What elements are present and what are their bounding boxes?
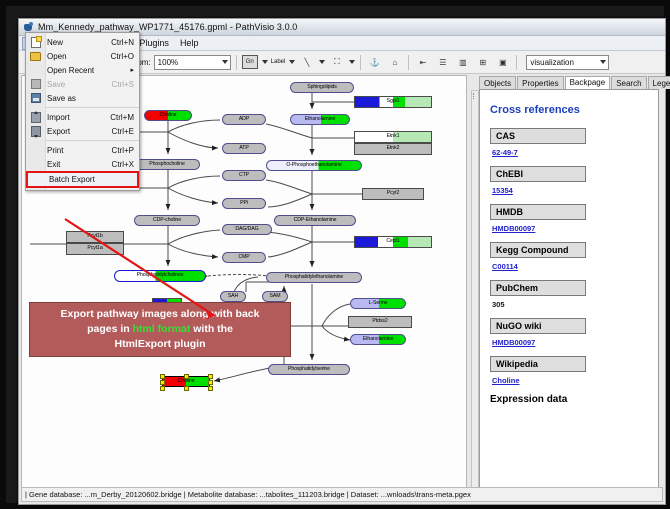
gene-node-etnk1[interactable]: Etnk1 (354, 131, 432, 143)
menu-item-shortcut: Ctrl+S (112, 80, 139, 89)
xref-value-chebi[interactable]: 15354 (492, 186, 650, 195)
node-label: Pcyt1a (87, 246, 102, 251)
shape-tool-icon[interactable]: ⌂ (386, 54, 403, 71)
tab-properties[interactable]: Properties (517, 76, 563, 89)
node-label: Sphingolipids (307, 85, 337, 90)
node-label: Pcyt2 (387, 191, 399, 196)
datanode-dropdown-icon[interactable] (262, 60, 268, 64)
xref-label-nugo-wiki: NuGO wiki (490, 318, 586, 334)
menu-plugins[interactable]: Plugins (134, 37, 174, 50)
label-dropdown-icon[interactable] (289, 60, 295, 64)
menu-item-label: New (45, 38, 111, 47)
open-folder-icon (26, 52, 45, 61)
tab-search[interactable]: Search (611, 76, 646, 89)
gene-node-cept1[interactable]: Cept1 (354, 236, 432, 248)
node-label: CMP (238, 255, 249, 260)
menu-item-open-recent[interactable]: Open Recent ▸ (26, 63, 139, 77)
selection-handle[interactable] (160, 374, 165, 379)
tab-backpage[interactable]: Backpage (565, 76, 611, 89)
interaction-tool-icon[interactable]: ⛶ (328, 54, 345, 71)
callout-highlight: html format (133, 323, 191, 335)
export-icon (26, 126, 45, 137)
menu-item-shortcut: Ctrl+O (111, 52, 139, 61)
node-label: Ethanolamine (305, 117, 336, 122)
xref-value-hmdb[interactable]: HMDB00097 (492, 224, 650, 233)
node-label: Etnk1 (387, 134, 400, 139)
save-as-icon (26, 93, 45, 103)
metabolite-node-dag[interactable]: DAG/DAG (222, 224, 272, 235)
metabolite-node-sam[interactable]: SAM (262, 291, 288, 302)
xref-value-cas[interactable]: 62-49-7 (492, 148, 650, 157)
menu-item-shortcut: Ctrl+N (111, 38, 139, 47)
xref-label-kegg-compound: Kegg Compound (490, 242, 586, 258)
metabolite-node-phosphatidylethanolamine[interactable]: Phosphatidylethanolamine (266, 272, 362, 283)
node-label: Choline (178, 379, 195, 384)
menu-item-open[interactable]: Open Ctrl+O (26, 49, 139, 63)
node-label: DAG/DAG (235, 227, 258, 232)
gene-node-ptdss2[interactable]: Ptdss2 (348, 316, 412, 328)
align-left-icon[interactable]: ⇤ (414, 54, 431, 71)
anchor-tool-icon[interactable]: ⚓ (366, 54, 383, 71)
menu-item-label: Import (45, 113, 110, 122)
selection-handle[interactable] (184, 386, 189, 391)
selection-handle[interactable] (160, 386, 165, 391)
zoom-combobox[interactable]: 100% (154, 55, 231, 70)
window-outer-frame: Mm_Kennedy_pathway_WP1771_45176.gpml - P… (6, 6, 664, 503)
metabolite-node-adp[interactable]: ADP (222, 114, 266, 125)
metabolite-node-l-serine[interactable]: L-Serine (350, 298, 406, 309)
visualization-combobox[interactable]: visualization (526, 55, 609, 70)
visualization-value: visualization (530, 58, 574, 67)
side-panel-tabs: Objects Properties Backpage Search Legen… (469, 74, 665, 89)
node-label: O-Phosphoethanolamine (286, 163, 341, 168)
menu-item-shortcut: Ctrl+M (110, 113, 139, 122)
gene-node-etnk2[interactable]: Etnk2 (354, 143, 432, 155)
node-label: CDP-choline (153, 218, 181, 223)
menu-item-label: Batch Export (47, 175, 137, 184)
expression-data-heading: Expression data (490, 394, 650, 405)
datanode-tool-icon[interactable]: Gn (242, 55, 258, 69)
tab-legend[interactable]: Legend (648, 76, 670, 89)
menu-item-shortcut: Ctrl+P (112, 146, 139, 155)
gene-node-pcyt2[interactable]: Pcyt2 (362, 188, 424, 200)
metabolite-node-sphingolipids[interactable]: Sphingolipids (290, 82, 354, 93)
tab-objects[interactable]: Objects (479, 76, 516, 89)
xref-value-pubchem: 305 (492, 300, 650, 309)
metabolite-node-phosphatidylserine[interactable]: Phosphatidylserine (268, 364, 350, 375)
new-document-icon (26, 37, 45, 48)
gene-node-sgpl1[interactable]: Sgpl1 (354, 96, 432, 108)
panel-drag-handle[interactable] (471, 90, 479, 488)
node-label: CTP (239, 173, 249, 178)
stack-icon[interactable]: ⊞ (474, 54, 491, 71)
menu-item-export[interactable]: Export Ctrl+E (26, 124, 139, 138)
menu-item-label: Save (45, 80, 112, 89)
xref-value-nugo-wiki[interactable]: HMDB00097 (492, 338, 650, 347)
node-label: Ethanolamine (363, 337, 394, 342)
xref-value-kegg-compound[interactable]: C00114 (492, 262, 650, 271)
gene-node-pcyt1b[interactable]: Pcyt1b (66, 231, 124, 243)
line-dropdown-icon[interactable] (319, 60, 325, 64)
metabolite-node-sah[interactable]: SAH (220, 291, 246, 302)
metabolite-node-choline[interactable]: Choline (144, 110, 192, 121)
line-tool-icon[interactable]: ╲ (298, 54, 315, 71)
callout-line-3: HtmlExport plugin (36, 337, 284, 352)
metabolite-node-phosphatidylcholines[interactable]: Phosphatidylcholines (114, 270, 206, 282)
menu-divider (46, 140, 139, 141)
callout-line-2: pages in html format with the (36, 322, 284, 337)
xref-value-wikipedia[interactable]: Choline (492, 376, 650, 385)
callout-line2-after: with the (190, 323, 233, 335)
node-label: Phosphatidylethanolamine (285, 275, 343, 280)
xref-label-cas: CAS (490, 128, 586, 144)
node-label: PPi (240, 201, 248, 206)
selection-handle[interactable] (208, 380, 213, 385)
xref-label-chebi: ChEBI (490, 166, 586, 182)
import-icon (26, 112, 45, 123)
menu-item-print[interactable]: Print Ctrl+P (26, 143, 139, 157)
menu-item-label: Save as (45, 94, 134, 103)
menu-item-new[interactable]: New Ctrl+N (26, 35, 139, 49)
pathvisio-icon (23, 22, 34, 33)
interaction-dropdown-icon[interactable] (349, 60, 355, 64)
callout-line-1: Export pathway images along with back (36, 307, 284, 322)
submenu-arrow-icon: ▸ (130, 66, 139, 74)
metabolite-node-choline-selected[interactable]: Choline (162, 376, 210, 387)
xref-label-wikipedia: Wikipedia (490, 356, 586, 372)
metabolite-node-ctp[interactable]: CTP (222, 170, 266, 181)
chevron-down-icon (222, 60, 228, 64)
menu-item-label: Print (45, 146, 112, 155)
menu-item-exit[interactable]: Exit Ctrl+X (26, 157, 139, 171)
xref-label-hmdb: HMDB (490, 204, 586, 220)
screenshot-root: Mm_Kennedy_pathway_WP1771_45176.gpml - P… (0, 0, 670, 509)
menu-item-label: Exit (45, 160, 112, 169)
node-label: Choline (160, 113, 177, 118)
node-label: Phosphatidylcholines (137, 273, 184, 278)
menu-item-label: Open (45, 52, 111, 61)
menu-divider (46, 107, 139, 108)
chevron-down-icon (600, 60, 606, 64)
align-columns-icon[interactable]: ▥ (454, 54, 471, 71)
xref-label-pubchem: PubChem (490, 280, 586, 296)
side-panel: Objects Properties Backpage Search Legen… (469, 74, 665, 494)
node-label: L-Serine (369, 301, 388, 306)
node-label: Cept1 (386, 239, 399, 244)
node-label: Pcyt1b (87, 234, 102, 239)
label-tool-icon[interactable]: Label (271, 59, 286, 65)
toolbar-separator (516, 55, 517, 70)
node-label: Phosphocholine (149, 162, 185, 167)
metabolite-node-phosphocholine[interactable]: Phosphocholine (134, 159, 200, 170)
menu-item-batch-export[interactable]: Batch Export (26, 171, 139, 188)
menu-help[interactable]: Help (175, 37, 204, 50)
menu-item-label: Open Recent (45, 66, 130, 75)
node-label: Phosphatidylserine (288, 367, 330, 372)
metabolite-node-ppi[interactable]: PPi (222, 198, 266, 209)
gene-node-pcyt1a[interactable]: Pcyt1a (66, 243, 124, 255)
menu-item-save-as[interactable]: Save as (26, 91, 139, 105)
metabolite-node-cdp-choline[interactable]: CDP-choline (134, 215, 200, 226)
save-icon (26, 79, 45, 89)
pathvisio-window: Mm_Kennedy_pathway_WP1771_45176.gpml - P… (18, 18, 666, 505)
selection-handle[interactable] (160, 380, 165, 385)
menu-item-label: Export (45, 127, 112, 136)
selection-handle[interactable] (208, 374, 213, 379)
window-title: Mm_Kennedy_pathway_WP1771_45176.gpml - P… (38, 22, 297, 32)
zoom-value: 100% (158, 58, 178, 67)
toolbar-separator (360, 55, 361, 70)
menu-item-shortcut: Ctrl+X (112, 160, 139, 169)
selection-handle[interactable] (208, 386, 213, 391)
align-rows-icon[interactable]: ☰ (434, 54, 451, 71)
toolbar-separator (408, 55, 409, 70)
status-bar: | Gene database: ...m_Derby_20120602.bri… (21, 487, 663, 502)
metabolite-node-ethanolamine[interactable]: Ethanolamine (290, 114, 350, 125)
metabolite-node-ethanolamine-2[interactable]: Ethanolamine (350, 334, 406, 345)
file-menu-dropdown[interactable]: New Ctrl+N Open Ctrl+O Open Recent ▸ Sav… (25, 32, 140, 191)
menu-item-import[interactable]: Import Ctrl+M (26, 110, 139, 124)
node-label: Etnk2 (387, 146, 400, 151)
cross-references-heading: Cross references (490, 104, 650, 116)
node-label: ATP (239, 146, 248, 151)
metabolite-node-o-phosphoethanolamine[interactable]: O-Phosphoethanolamine (266, 160, 362, 171)
node-label: Sgpl1 (387, 99, 400, 104)
toolbar-separator (236, 55, 237, 70)
node-label: Ptdss2 (372, 319, 387, 324)
node-label: SAM (270, 294, 281, 299)
node-label: SAH (228, 294, 238, 299)
metabolite-node-atp[interactable]: ATP (222, 143, 266, 154)
selection-handle[interactable] (184, 374, 189, 379)
status-bar-text: | Gene database: ...m_Derby_20120602.bri… (22, 490, 471, 499)
node-label: ADP (239, 117, 249, 122)
metabolite-node-cmp[interactable]: CMP (222, 252, 266, 263)
backpage-panel: Cross references CAS 62-49-7 ChEBI 15354… (479, 89, 659, 489)
metabolite-node-cdp-ethanolamine[interactable]: CDP-Ethanolamine (274, 215, 356, 226)
menu-item-shortcut: Ctrl+E (112, 127, 139, 136)
callout-line2-before: pages in (87, 323, 133, 335)
menu-item-save: Save Ctrl+S (26, 77, 139, 91)
annotation-callout: Export pathway images along with back pa… (29, 302, 291, 357)
node-label: CDP-Ethanolamine (294, 218, 337, 223)
group-icon[interactable]: ▣ (494, 54, 511, 71)
